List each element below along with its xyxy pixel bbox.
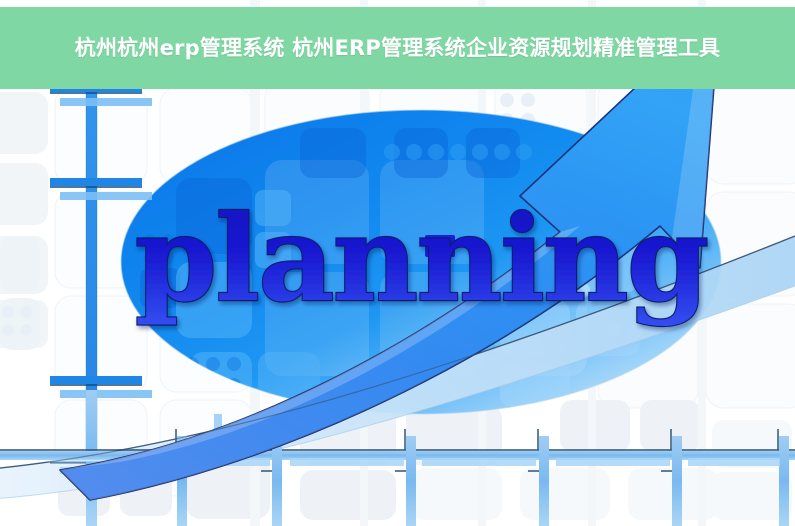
page-title: 杭州杭州erp管理系统 杭州ERP管理系统企业资源规划精准管理工具 [75, 32, 720, 64]
svg-text:planning: planning [135, 189, 708, 328]
title-banner: 杭州杭州erp管理系统 杭州ERP管理系统企业资源规划精准管理工具 [0, 7, 795, 89]
poster-canvas: planning 杭州杭州erp管理系统 杭州ERP管理系统企业资源规划精准管理… [0, 0, 795, 526]
planning-wordmark: planning [135, 189, 708, 328]
